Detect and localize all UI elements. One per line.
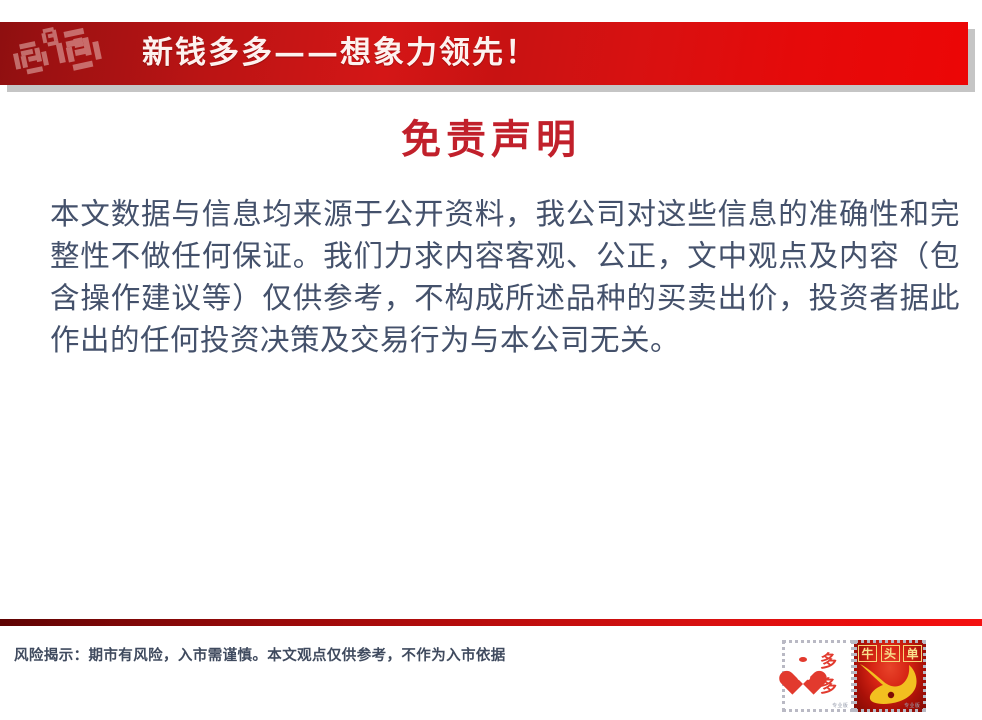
risk-disclosure-note: 风险揭示：期市有风险，入市需谨慎。本文观点仅供参考，不作为入市依据 — [14, 644, 506, 665]
qianduoduo-brand-mark: 钱 多多 — [788, 654, 848, 690]
disclaimer-paragraph: 本文数据与信息均来源于公开资料，我公司对这些信息的准确性和完整性不做任何保证。我… — [50, 193, 960, 361]
header-title: 新钱多多——想象力领先！ — [142, 38, 538, 69]
heart-char: 钱 — [788, 662, 818, 683]
bull-head-icon — [857, 660, 923, 706]
stamp-corner-mark: 专业版 — [832, 702, 848, 709]
slide-content: 免责声明 本文数据与信息均来源于公开资料，我公司对这些信息的准确性和完整性不做任… — [0, 85, 982, 613]
header-logo — [0, 22, 120, 85]
slide-header-banner: 新钱多多——想象力领先！ — [0, 22, 968, 85]
chinese-knot-lattice-icon — [8, 24, 114, 84]
qianduoduo-stamp-logo: 钱 多多 专业版 — [782, 640, 854, 712]
heart-icon: 钱 — [788, 658, 818, 686]
page-title: 免责声明 — [0, 117, 982, 163]
footer-logos: 钱 多多 专业版 牛 头 单 专业版 — [782, 640, 928, 712]
stamp-corner-mark: 专业版 — [904, 702, 920, 709]
niutoudan-stamp-logo: 牛 头 单 专业版 — [854, 640, 926, 712]
footer-divider — [0, 619, 982, 626]
heart-top-dot — [799, 657, 807, 662]
